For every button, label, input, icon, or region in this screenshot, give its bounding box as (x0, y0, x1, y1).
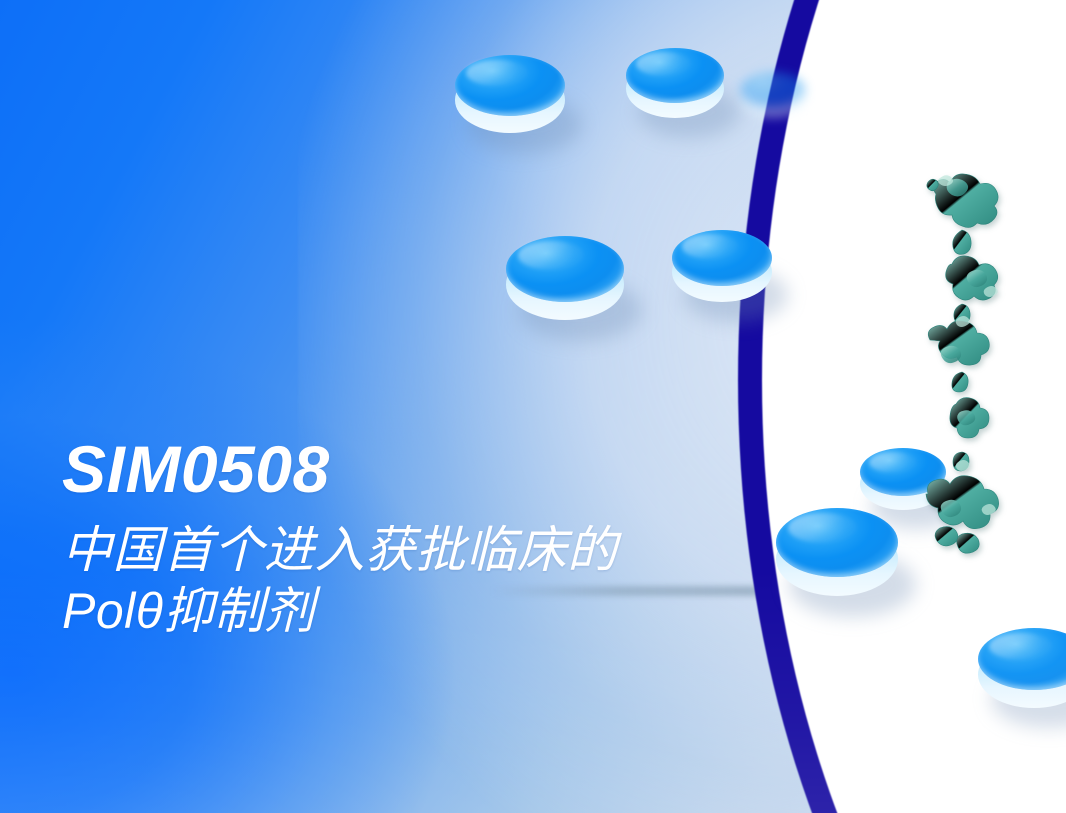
tablet-top (740, 72, 806, 108)
blue-round-tablet (672, 230, 772, 302)
blurred-background-tablet (740, 72, 806, 118)
blue-round-tablet (626, 48, 724, 118)
subtitle-line-1: 中国首个进入获批临床的 (62, 519, 842, 582)
blue-round-tablet (506, 236, 624, 320)
protein-ribbon-structure (900, 160, 1030, 570)
tablet-gloss (636, 52, 691, 76)
tablet-gloss (466, 60, 528, 87)
subtitle-line-2: Polθ抑制剂 (62, 580, 842, 643)
page-title: SIM0508 (62, 436, 842, 503)
promo-banner: SIM0508 中国首个进入获批临床的 Polθ抑制剂 (0, 0, 1066, 813)
tablet-gloss (682, 234, 738, 258)
blue-round-tablet (455, 55, 565, 133)
tablet-gloss (518, 241, 584, 270)
headline-block: SIM0508 中国首个进入获批临床的 Polθ抑制剂 (62, 436, 842, 643)
